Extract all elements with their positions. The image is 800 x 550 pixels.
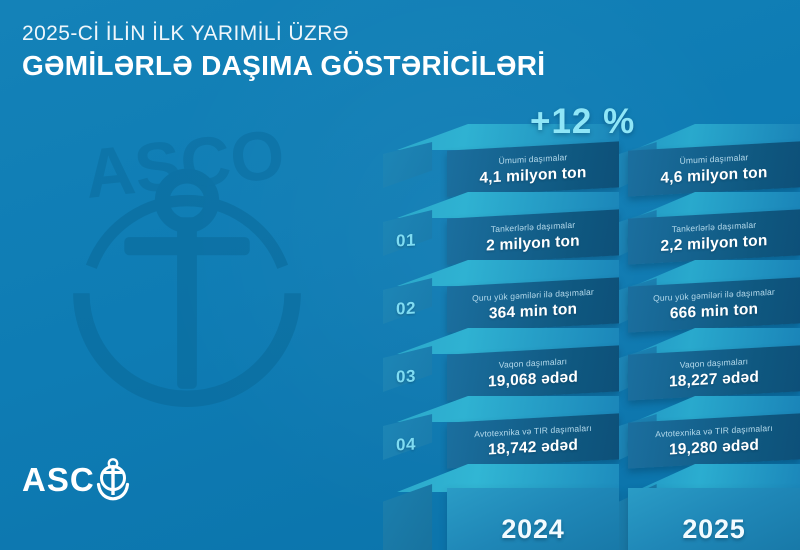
panel-value: 4,1 milyon ton xyxy=(479,165,586,186)
infographic-canvas: ASCO 2025-Cİ İLİN İLK YARIMİLİ ÜZRƏ GƏMİ… xyxy=(0,0,800,550)
panel-value: 19,280 ədəd xyxy=(669,437,759,457)
panel-label: Ümumi daşımalar xyxy=(680,153,749,165)
year-label: 2025 xyxy=(682,514,745,545)
data-panel: Quru yük gəmiləri ilə daşımalar 666 min … xyxy=(628,277,800,332)
svg-text:ASCO: ASCO xyxy=(81,115,288,213)
panel-value: 18,742 ədəd xyxy=(488,437,578,457)
base-front-face: 2024 xyxy=(447,488,619,550)
data-panel: Avtotexnika və TIR daşımaları 19,280 ədə… xyxy=(628,413,800,468)
asco-logo: ASC xyxy=(22,457,133,501)
panel-value: 19,068 ədəd xyxy=(488,369,578,389)
panel-value: 666 min ton xyxy=(670,301,758,321)
panel-label: Vaqon daşımaları xyxy=(680,357,748,369)
row-badge: 02 xyxy=(396,299,416,317)
data-panel: Tankerlərlə daşımalar 2,2 milyon ton xyxy=(628,209,800,264)
asco-watermark-logo: ASCO xyxy=(22,115,352,445)
panel-value: 2,2 milyon ton xyxy=(660,233,767,254)
panel-label: Tankerlərlə daşımalar xyxy=(672,221,756,234)
year-label: 2024 xyxy=(501,514,564,545)
data-panel: Tankerlərlə daşımalar 2 milyon ton xyxy=(447,209,619,264)
data-panel: Avtotexnika və TIR daşımaları 18,742 ədə… xyxy=(447,413,619,468)
panel-value: 18,227 ədəd xyxy=(669,369,759,389)
panel-label: Ümumi daşımalar xyxy=(499,153,568,165)
panel-value: 2 milyon ton xyxy=(486,233,580,254)
title-subline: 2025-Cİ İLİN İLK YARIMİLİ ÜZRƏ xyxy=(22,22,542,46)
panel-value: 364 min ton xyxy=(489,301,577,321)
data-panel: Ümumi daşımalar 4,1 milyon ton xyxy=(447,141,619,196)
base-front-face: 2025 xyxy=(628,488,800,550)
row-badge: 01 xyxy=(396,231,416,249)
column-2025: Ümumi daşımalar 4,6 milyon ton 01 Tanker… xyxy=(619,124,800,544)
anchor-icon xyxy=(93,457,133,501)
page-title: 2025-Cİ İLİN İLK YARIMİLİ ÜZRƏ GƏMİLƏRLƏ… xyxy=(22,22,542,82)
data-panel: Ümumi daşımalar 4,6 milyon ton xyxy=(628,141,800,196)
percent-change-badge: +12 % xyxy=(530,102,635,142)
data-panel: Vaqon daşımaları 19,068 ədəd xyxy=(447,345,619,400)
panel-label: Tankerlərlə daşımalar xyxy=(491,221,575,234)
panel-label: Vaqon daşımaları xyxy=(499,357,567,369)
row-badge: 03 xyxy=(396,367,416,385)
data-panel: Vaqon daşımaları 18,227 ədəd xyxy=(628,345,800,400)
data-panel: Quru yük gəmiləri ilə daşımalar 364 min … xyxy=(447,277,619,332)
row-badge: 04 xyxy=(396,435,416,453)
column-2024: Ümumi daşımalar 4,1 milyon ton 01 Tanker… xyxy=(383,124,619,544)
logo-wordmark: ASC xyxy=(22,463,95,496)
title-main: GƏMİLƏRLƏ DAŞIMA GÖSTƏRİCİLƏRİ xyxy=(22,49,542,82)
panel-value: 4,6 milyon ton xyxy=(660,165,767,186)
